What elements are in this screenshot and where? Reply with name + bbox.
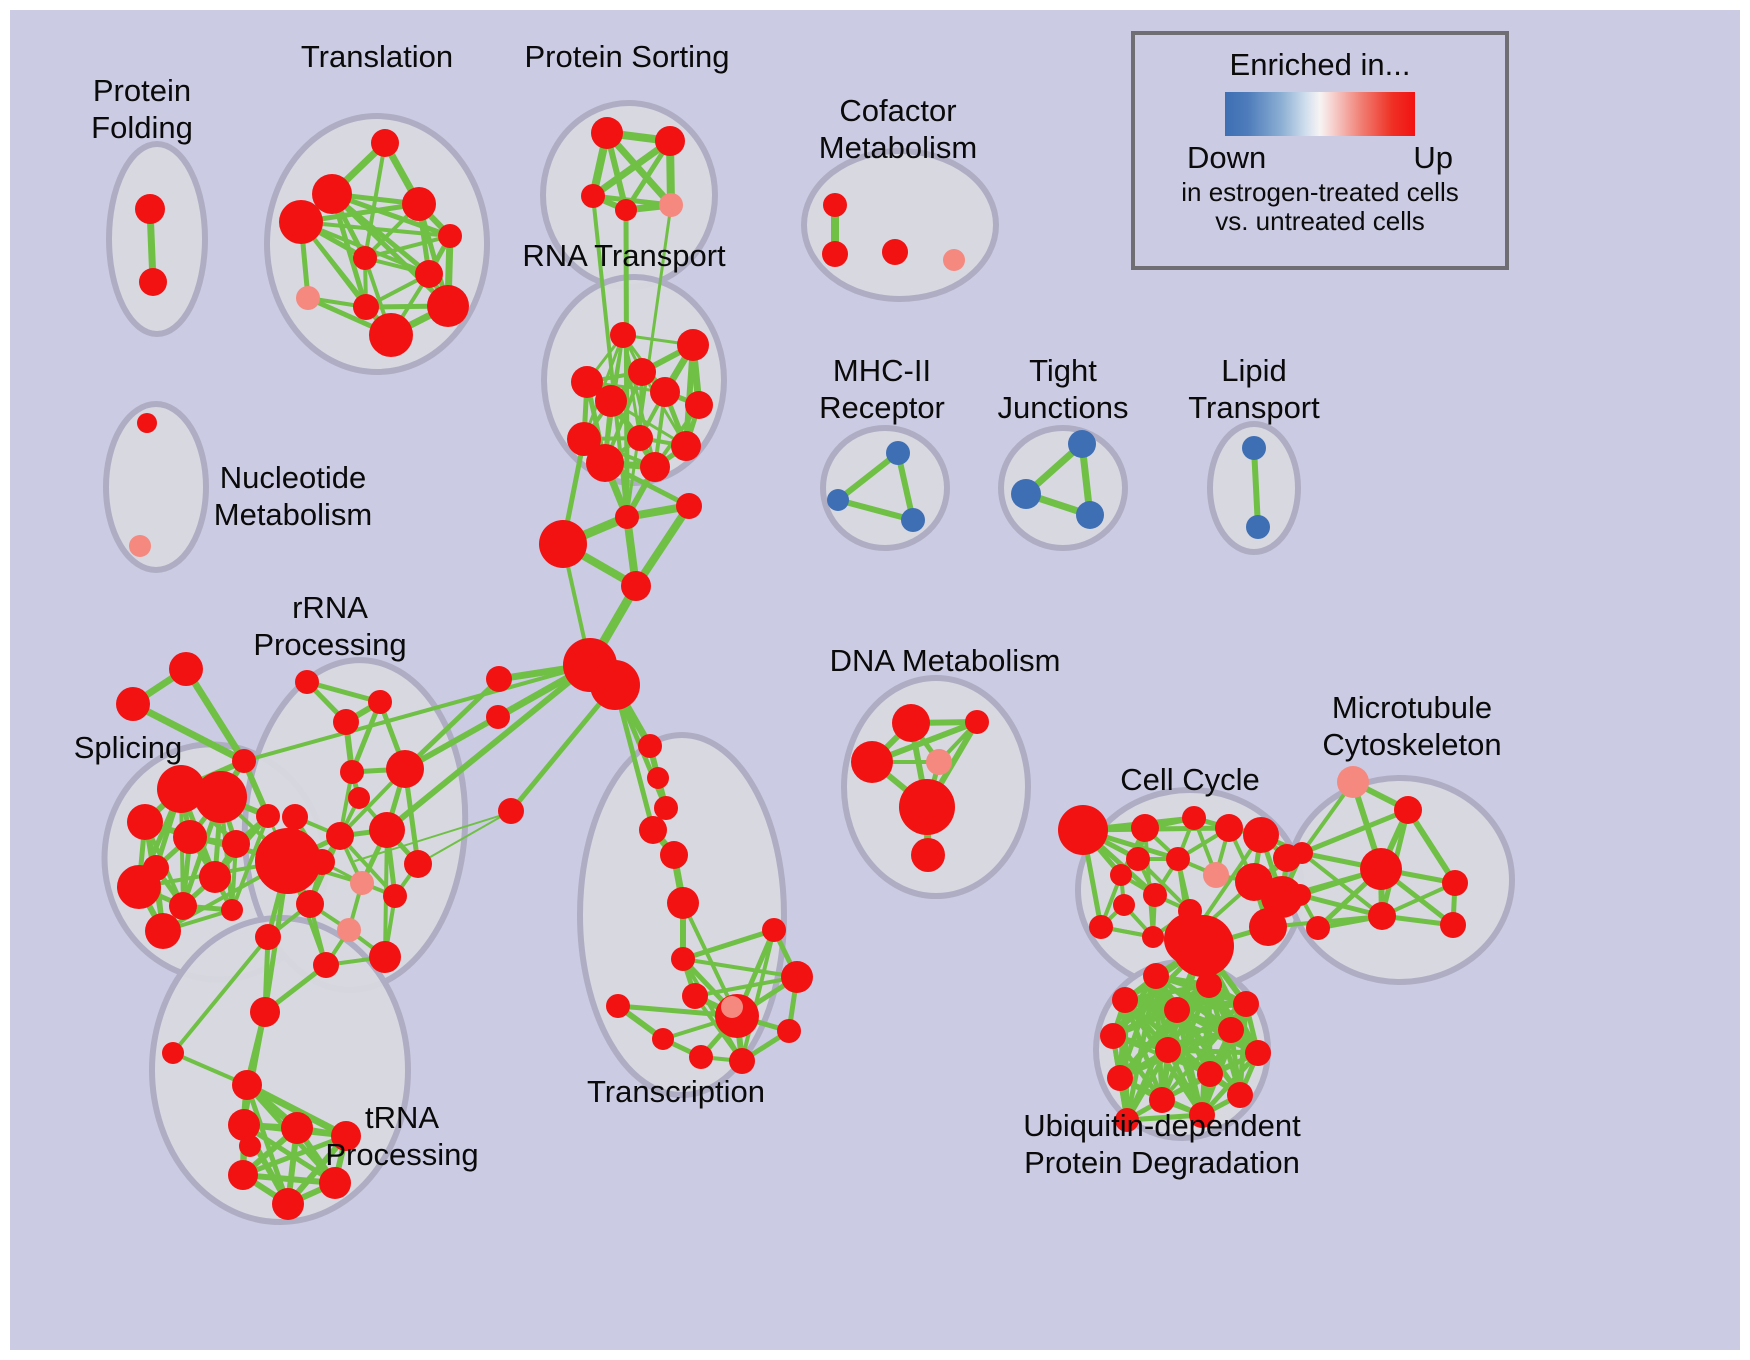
legend-subtitle: in estrogen-treated cells vs. untreated … bbox=[1181, 178, 1458, 236]
legend-up-label: Up bbox=[1413, 140, 1453, 176]
node[interactable] bbox=[1242, 436, 1266, 460]
node[interactable] bbox=[1164, 913, 1216, 965]
node[interactable] bbox=[169, 652, 203, 686]
node[interactable] bbox=[901, 508, 925, 532]
node[interactable] bbox=[822, 241, 848, 267]
node-hub-4[interactable] bbox=[621, 571, 651, 601]
node[interactable] bbox=[195, 771, 247, 823]
figure-canvas: ProteinFoldingTranslationProtein Sorting… bbox=[0, 0, 1750, 1360]
node[interactable] bbox=[628, 358, 656, 386]
node[interactable] bbox=[312, 174, 352, 214]
node[interactable] bbox=[333, 709, 359, 735]
node[interactable] bbox=[781, 961, 813, 993]
node[interactable] bbox=[127, 804, 163, 840]
node[interactable] bbox=[350, 871, 374, 895]
node[interactable] bbox=[1243, 817, 1279, 853]
node[interactable] bbox=[721, 996, 743, 1018]
cluster-label-protein-sorting: Protein Sorting bbox=[524, 39, 729, 74]
node[interactable] bbox=[965, 710, 989, 734]
legend-endpoints: Down Up bbox=[1187, 140, 1453, 176]
node[interactable] bbox=[313, 952, 339, 978]
node[interactable] bbox=[851, 741, 893, 783]
node[interactable] bbox=[615, 199, 637, 221]
node[interactable] bbox=[340, 760, 364, 784]
node[interactable] bbox=[296, 286, 320, 310]
node[interactable] bbox=[610, 322, 636, 348]
node[interactable] bbox=[652, 1028, 674, 1050]
node[interactable] bbox=[1155, 1037, 1181, 1063]
node[interactable] bbox=[1360, 848, 1402, 890]
node[interactable] bbox=[337, 918, 361, 942]
cluster-label-dna-metabolism: DNA Metabolism bbox=[830, 643, 1061, 678]
node[interactable] bbox=[1182, 806, 1206, 830]
node[interactable] bbox=[228, 1109, 260, 1141]
cluster-label-cofactor-metabolism: CofactorMetabolism bbox=[819, 93, 978, 165]
node[interactable] bbox=[667, 887, 699, 919]
node[interactable] bbox=[129, 535, 151, 557]
node[interactable] bbox=[650, 377, 680, 407]
node[interactable] bbox=[639, 816, 667, 844]
cluster-label-protein-folding: ProteinFolding bbox=[91, 73, 193, 145]
node[interactable] bbox=[250, 997, 280, 1027]
node[interactable] bbox=[295, 670, 319, 694]
node[interactable] bbox=[1306, 916, 1330, 940]
node[interactable] bbox=[586, 444, 624, 482]
node[interactable] bbox=[777, 1019, 801, 1043]
node[interactable] bbox=[911, 838, 945, 872]
node-hub-3[interactable] bbox=[539, 520, 587, 568]
node[interactable] bbox=[279, 200, 323, 244]
node[interactable] bbox=[659, 193, 683, 217]
cluster-label-lipid-transport: LipidTransport bbox=[1188, 353, 1320, 425]
node[interactable] bbox=[671, 947, 695, 971]
node[interactable] bbox=[239, 1135, 261, 1157]
node[interactable] bbox=[1143, 883, 1167, 907]
node[interactable] bbox=[943, 249, 965, 271]
node-hub-12[interactable] bbox=[654, 796, 678, 820]
node[interactable] bbox=[595, 385, 627, 417]
node[interactable] bbox=[427, 285, 469, 327]
node[interactable] bbox=[256, 804, 280, 828]
node[interactable] bbox=[221, 899, 243, 921]
node[interactable] bbox=[892, 704, 930, 742]
node[interactable] bbox=[173, 820, 207, 854]
node[interactable] bbox=[353, 246, 377, 270]
node[interactable] bbox=[886, 441, 910, 465]
node[interactable] bbox=[1126, 847, 1150, 871]
node[interactable] bbox=[640, 452, 670, 482]
node[interactable] bbox=[1337, 766, 1369, 798]
node[interactable] bbox=[677, 329, 709, 361]
node[interactable] bbox=[1076, 501, 1104, 529]
node[interactable] bbox=[1233, 991, 1259, 1017]
node[interactable] bbox=[1107, 1065, 1133, 1091]
node[interactable] bbox=[281, 1112, 313, 1144]
legend-down-label: Down bbox=[1187, 140, 1266, 176]
node-hub-2[interactable] bbox=[676, 493, 702, 519]
node[interactable] bbox=[1394, 796, 1422, 824]
node[interactable] bbox=[117, 865, 161, 909]
node-hub-10[interactable] bbox=[638, 734, 662, 758]
node[interactable] bbox=[1246, 515, 1270, 539]
node[interactable] bbox=[1291, 842, 1313, 864]
legend-title: Enriched in... bbox=[1230, 49, 1411, 82]
cluster-label-tight-junctions: TightJunctions bbox=[998, 353, 1129, 425]
node-hub-6[interactable] bbox=[590, 660, 640, 710]
node[interactable] bbox=[1249, 908, 1287, 946]
node[interactable] bbox=[655, 126, 685, 156]
node[interactable] bbox=[1058, 805, 1108, 855]
cluster-label-microtubule-cytoskeleton: MicrotubuleCytoskeleton bbox=[1322, 690, 1501, 762]
node[interactable] bbox=[326, 822, 354, 850]
node[interactable] bbox=[1218, 1017, 1244, 1043]
node-hub-9[interactable] bbox=[498, 798, 524, 824]
node[interactable] bbox=[1227, 1082, 1253, 1108]
node[interactable] bbox=[1068, 430, 1096, 458]
node[interactable] bbox=[145, 913, 181, 949]
node[interactable] bbox=[882, 239, 908, 265]
node[interactable] bbox=[1112, 987, 1138, 1013]
node[interactable] bbox=[232, 749, 256, 773]
node[interactable] bbox=[1131, 814, 1159, 842]
node[interactable] bbox=[1197, 1061, 1223, 1087]
node[interactable] bbox=[1011, 479, 1041, 509]
node[interactable] bbox=[402, 187, 436, 221]
node[interactable] bbox=[1142, 926, 1164, 948]
node[interactable] bbox=[438, 224, 462, 248]
node[interactable] bbox=[1166, 847, 1190, 871]
node[interactable] bbox=[1196, 972, 1222, 998]
node[interactable] bbox=[1164, 997, 1190, 1023]
node[interactable] bbox=[228, 1160, 258, 1190]
node[interactable] bbox=[1110, 864, 1132, 886]
node[interactable] bbox=[369, 313, 413, 357]
node[interactable] bbox=[368, 690, 392, 714]
node[interactable] bbox=[369, 812, 405, 848]
cluster-label-nucleotide-metabolism: NucleotideMetabolism bbox=[214, 460, 373, 532]
node[interactable] bbox=[255, 828, 321, 894]
node[interactable] bbox=[682, 983, 708, 1009]
legend-box: Enriched in... Down Up in estrogen-treat… bbox=[1131, 31, 1509, 270]
node[interactable] bbox=[671, 431, 701, 461]
cluster-label-rna-transport: RNA Transport bbox=[522, 238, 726, 273]
node[interactable] bbox=[1289, 884, 1311, 906]
node[interactable] bbox=[348, 787, 370, 809]
node[interactable] bbox=[353, 294, 379, 320]
node[interactable] bbox=[137, 413, 157, 433]
node[interactable] bbox=[255, 924, 281, 950]
node[interactable] bbox=[1113, 894, 1135, 916]
legend-subtitle-line1: in estrogen-treated cells bbox=[1181, 178, 1458, 207]
node[interactable] bbox=[371, 129, 399, 157]
node[interactable] bbox=[660, 841, 688, 869]
node[interactable] bbox=[823, 193, 847, 217]
cluster-hull-layer bbox=[80, 103, 1512, 1222]
color-gradient-bar bbox=[1225, 92, 1415, 136]
node[interactable] bbox=[169, 892, 197, 920]
node[interactable] bbox=[1442, 870, 1468, 896]
node[interactable] bbox=[926, 749, 952, 775]
node-hub-8[interactable] bbox=[486, 705, 510, 729]
node[interactable] bbox=[139, 268, 167, 296]
node[interactable] bbox=[296, 890, 324, 918]
node[interactable] bbox=[232, 1070, 262, 1100]
node[interactable] bbox=[1203, 862, 1229, 888]
legend-subtitle-line2: vs. untreated cells bbox=[1181, 207, 1458, 236]
node[interactable] bbox=[581, 184, 605, 208]
node[interactable] bbox=[369, 941, 401, 973]
node[interactable] bbox=[689, 1045, 713, 1069]
node[interactable] bbox=[827, 489, 849, 511]
node[interactable] bbox=[199, 861, 231, 893]
node-hub-11[interactable] bbox=[647, 767, 669, 789]
node[interactable] bbox=[135, 194, 165, 224]
node[interactable] bbox=[386, 750, 424, 788]
cluster-label-cell-cycle: Cell Cycle bbox=[1120, 762, 1260, 797]
node[interactable] bbox=[1215, 814, 1243, 842]
node[interactable] bbox=[762, 918, 786, 942]
cluster-label-splicing: Splicing bbox=[74, 730, 183, 765]
node[interactable] bbox=[282, 804, 308, 830]
node[interactable] bbox=[627, 425, 653, 451]
cluster-label-translation: Translation bbox=[301, 39, 453, 74]
cluster-label-mhc-ii-receptor: MHC-IIReceptor bbox=[819, 353, 945, 425]
node[interactable] bbox=[222, 830, 250, 858]
node[interactable] bbox=[1143, 963, 1169, 989]
node[interactable] bbox=[162, 1042, 184, 1064]
cluster-hull-mhc-ii-receptor bbox=[823, 428, 947, 548]
node[interactable] bbox=[1245, 1040, 1271, 1066]
node[interactable] bbox=[729, 1048, 755, 1074]
node-hub-1[interactable] bbox=[615, 505, 639, 529]
cluster-label-rrna-processing: rRNAProcessing bbox=[253, 590, 406, 662]
node[interactable] bbox=[1368, 902, 1396, 930]
cluster-hull-nucleotide-metabolism bbox=[106, 404, 206, 570]
node[interactable] bbox=[383, 884, 407, 908]
node[interactable] bbox=[1089, 915, 1113, 939]
node-hub-7[interactable] bbox=[486, 666, 512, 692]
node[interactable] bbox=[116, 687, 150, 721]
node[interactable] bbox=[899, 779, 955, 835]
node[interactable] bbox=[591, 117, 623, 149]
node[interactable] bbox=[606, 994, 630, 1018]
node[interactable] bbox=[404, 850, 432, 878]
cluster-label-transcription: Transcription bbox=[587, 1074, 765, 1109]
cluster-label-ubiquitin-protein-degradation: Ubiquitin-dependentProtein Degradation bbox=[1023, 1108, 1301, 1180]
node[interactable] bbox=[272, 1188, 304, 1220]
node[interactable] bbox=[415, 260, 443, 288]
cluster-hull-protein-folding bbox=[109, 144, 205, 334]
node[interactable] bbox=[1440, 912, 1466, 938]
node[interactable] bbox=[685, 391, 713, 419]
node[interactable] bbox=[1100, 1023, 1126, 1049]
